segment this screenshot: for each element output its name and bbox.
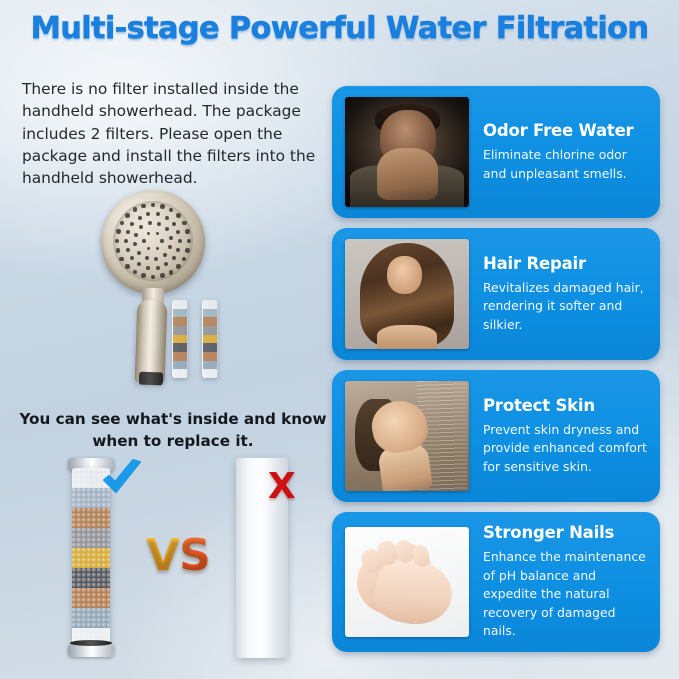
card-description: Prevent skin dryness and provide enhance… <box>483 421 648 477</box>
card-thumbnail-odor <box>345 97 469 207</box>
card-description: Enhance the maintenance of pH balance an… <box>483 548 648 641</box>
feature-card-odor-free-water[interactable]: Odor Free Water Eliminate chlorine odor … <box>332 86 660 218</box>
comparison-caption: You can see what's inside and know when … <box>16 409 330 452</box>
feature-card-hair-repair[interactable]: Hair Repair Revitalizes damaged hair, re… <box>332 228 660 360</box>
check-mark-icon <box>100 458 144 502</box>
showerhead-hose-connector <box>139 372 163 386</box>
card-description: Revitalizes damaged hair, rendering it s… <box>483 279 648 335</box>
card-description: Eliminate chlorine odor and unpleasant s… <box>483 146 648 183</box>
infographic-page: Multi-stage Powerful Water Filtration Th… <box>0 0 679 679</box>
filter-o-ring <box>70 640 112 646</box>
card-thumbnail-hair <box>345 239 469 349</box>
filter-cartridge-icon-2 <box>202 300 218 378</box>
page-title: Multi-stage Powerful Water Filtration <box>0 11 679 46</box>
intro-paragraph: There is no filter installed inside the … <box>22 78 322 190</box>
x-mark-icon: X <box>268 466 296 507</box>
feature-card-stronger-nails[interactable]: Stronger Nails Enhance the maintenance o… <box>332 512 660 652</box>
filter-comparison: VS X <box>46 452 336 672</box>
showerhead-handle <box>135 300 168 384</box>
feature-card-list: Odor Free Water Eliminate chlorine odor … <box>332 86 660 662</box>
card-title: Hair Repair <box>483 254 648 273</box>
card-title: Stronger Nails <box>483 523 648 542</box>
card-thumbnail-nails <box>345 527 469 637</box>
card-thumbnail-skin <box>345 381 469 491</box>
showerhead-face-housing <box>101 190 205 294</box>
card-title: Protect Skin <box>483 396 648 415</box>
filter-cartridge-icon-1 <box>172 300 188 378</box>
vs-letter-s: S <box>179 530 210 581</box>
vs-letter-v: V <box>146 530 179 581</box>
vs-label: VS <box>146 530 210 581</box>
feature-card-protect-skin[interactable]: Protect Skin Prevent skin dryness and pr… <box>332 370 660 502</box>
spray-nozzle-face <box>113 201 193 281</box>
card-title: Odor Free Water <box>483 121 648 140</box>
